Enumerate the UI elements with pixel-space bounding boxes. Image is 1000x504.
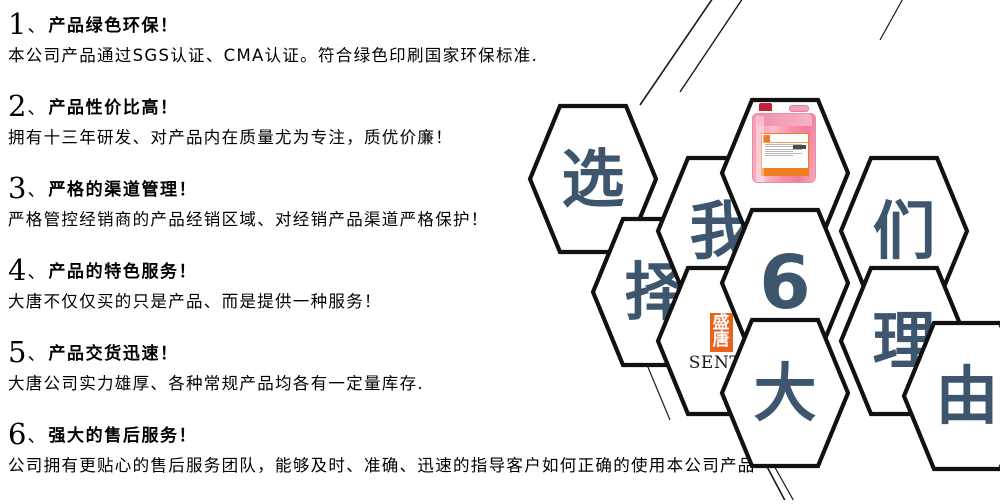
hex-label-you: 由 [901, 320, 1000, 472]
jerrycan-cap [759, 103, 772, 111]
label-footer-bar [762, 168, 808, 175]
hex-cell-da: 大 [719, 317, 851, 469]
label-text-line [765, 153, 802, 154]
jerrycan-shoulder [758, 114, 812, 126]
jerrycan-body [752, 113, 816, 183]
promo-banner: { "colors": { "hex_text": "#3d566e", "lo… [0, 0, 1000, 500]
hex-label-da: 大 [719, 317, 851, 469]
label-logo-square [763, 135, 770, 142]
jerrycan-label [761, 133, 809, 176]
hex-cell-you: 由 [901, 320, 1000, 472]
label-header [762, 134, 808, 143]
product-image-jerrycan [752, 107, 816, 183]
jerrycan-handle [789, 105, 809, 112]
label-barcode [793, 145, 806, 149]
honeycomb-graphic: 选 择 我 盛 唐 SENTA [0, 0, 1000, 500]
label-text-line [765, 151, 793, 152]
label-text-line [765, 155, 793, 156]
label-text-line [765, 146, 793, 147]
